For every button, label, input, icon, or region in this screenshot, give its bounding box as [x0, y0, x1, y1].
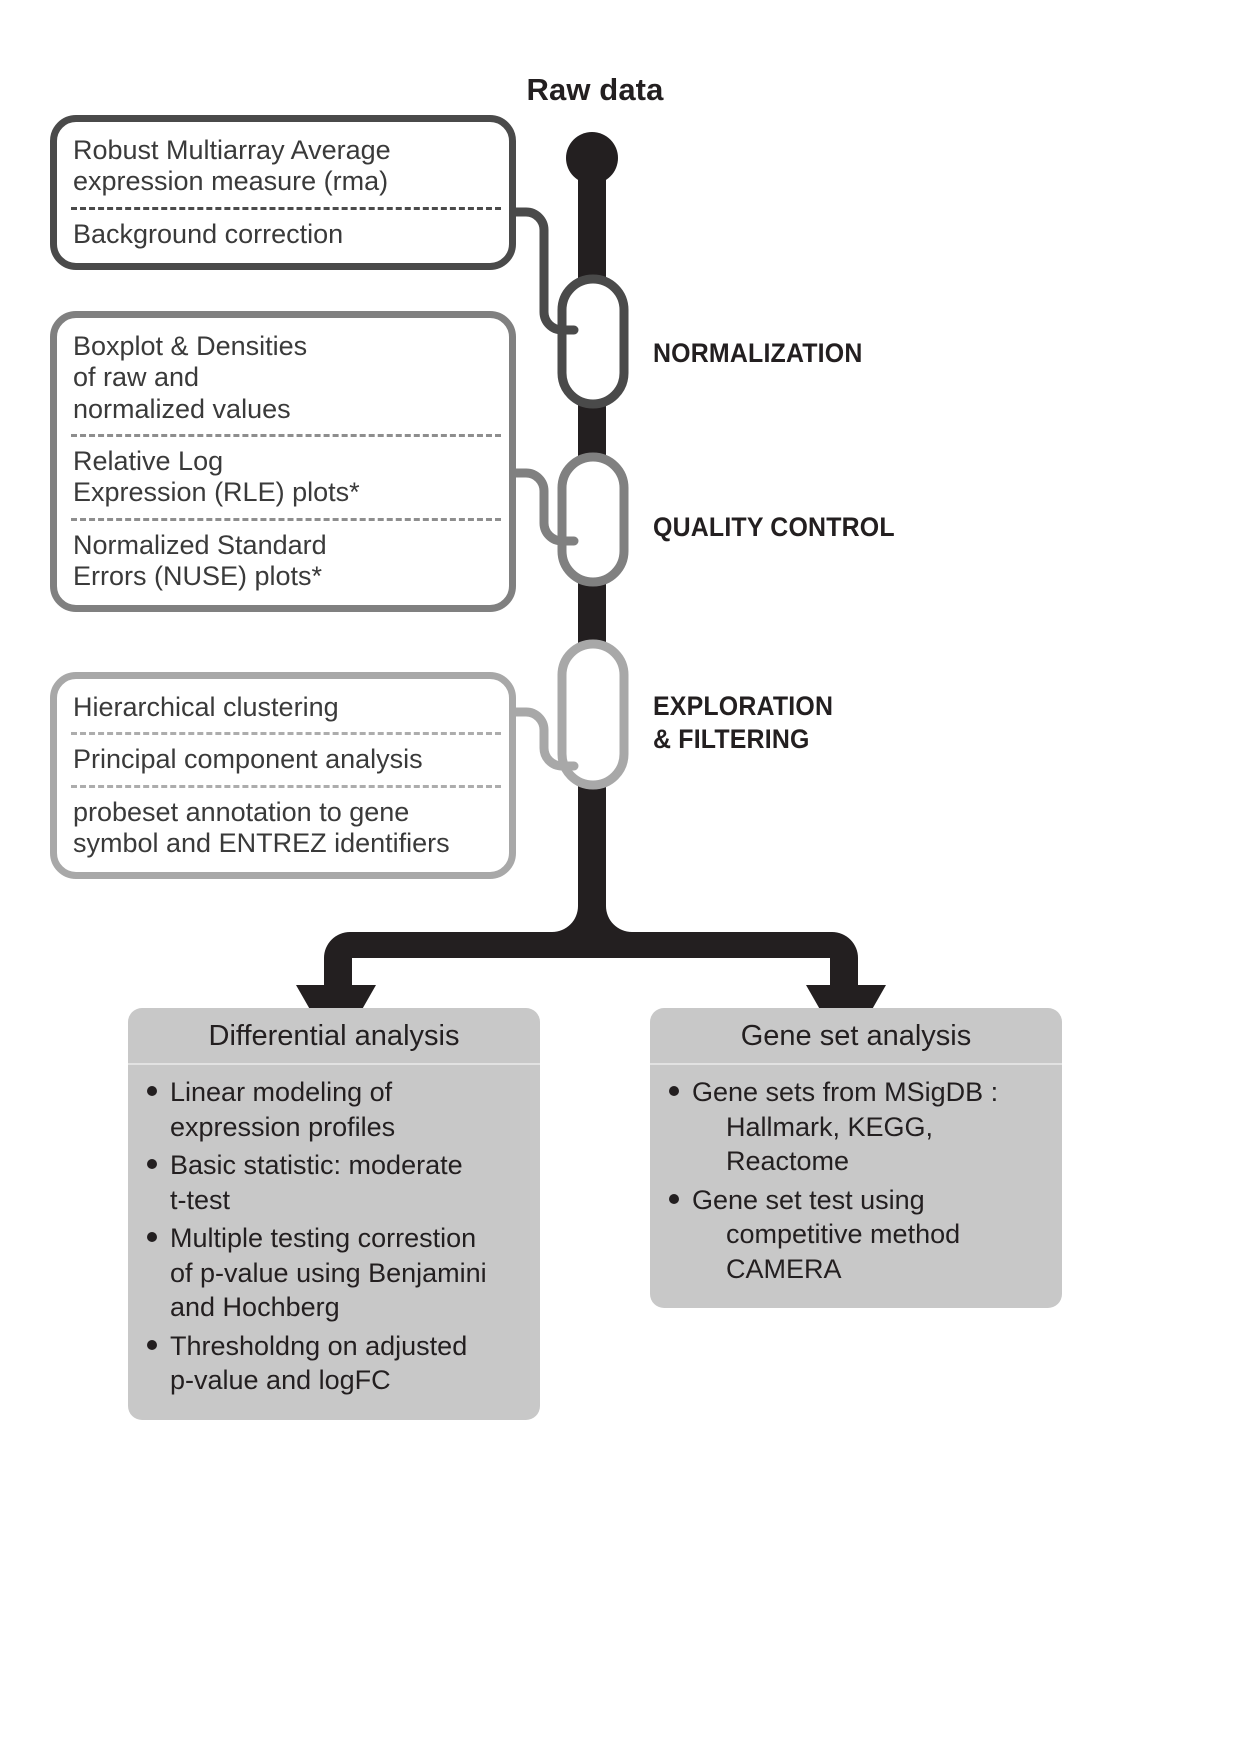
- card-line: probeset annotation to gene: [73, 797, 509, 828]
- list-item: Multiple testing correstion of p-value u…: [144, 1221, 526, 1325]
- stage-label-line: & FILTERING: [653, 723, 833, 756]
- bullet-line: Thresholdng on adjusted: [170, 1331, 467, 1361]
- card-segment: Principal component analysis: [57, 735, 509, 784]
- list-item: Linear modeling of expression profiles: [144, 1075, 526, 1144]
- bullet-line: and Hochberg: [170, 1290, 526, 1325]
- bullet-dot: [669, 1194, 679, 1204]
- bullet-line: Multiple testing correstion: [170, 1223, 476, 1253]
- stage-card-normalization: Robust Multiarray Average expression mea…: [50, 115, 516, 270]
- card-segment: Boxplot & Densities of raw and normalize…: [57, 318, 509, 434]
- bullet-line: Linear modeling of: [170, 1077, 392, 1107]
- list-item: Gene set test using competitive method C…: [666, 1183, 1048, 1287]
- card-line: Expression (RLE) plots*: [73, 477, 509, 508]
- bullet-line: expression profiles: [170, 1110, 526, 1145]
- stage-card-quality-control: Boxplot & Densities of raw and normalize…: [50, 311, 516, 612]
- stage-node-quality-control: [562, 457, 624, 582]
- stage-label-exploration: EXPLORATION & FILTERING: [653, 690, 833, 757]
- card-segment: probeset annotation to gene symbol and E…: [57, 788, 509, 873]
- bullet-line: Hallmark, KEGG,: [692, 1110, 1048, 1145]
- stage-label-quality-control: QUALITY CONTROL: [653, 511, 895, 544]
- card-line: Background correction: [73, 219, 509, 250]
- bullet-dot: [147, 1340, 157, 1350]
- bullet-line: p-value and logFC: [170, 1363, 526, 1398]
- bullet-line: competitive method: [692, 1217, 1048, 1252]
- panel-title: Gene set analysis: [650, 1008, 1062, 1065]
- card-segment: Background correction: [57, 210, 509, 263]
- card-segment: Relative Log Expression (RLE) plots*: [57, 437, 509, 518]
- stage-node-normalization: [562, 279, 624, 404]
- bullet-line: t-test: [170, 1183, 526, 1218]
- card-line: expression measure (rma): [73, 166, 509, 197]
- panel-bullet-list: Gene sets from MSigDB : Hallmark, KEGG, …: [650, 1065, 1062, 1308]
- card-line: Principal component analysis: [73, 744, 509, 775]
- bullet-line: Gene set test using: [692, 1185, 925, 1215]
- card-line: Normalized Standard: [73, 530, 509, 561]
- card-line: Robust Multiarray Average: [73, 135, 509, 166]
- bullet-line: Basic statistic: moderate: [170, 1150, 463, 1180]
- card-line: of raw and: [73, 362, 509, 393]
- card-line: Hierarchical clustering: [73, 692, 509, 723]
- stage-label-line: EXPLORATION: [653, 690, 833, 723]
- card-line: Errors (NUSE) plots*: [73, 561, 509, 592]
- card-segment: Normalized Standard Errors (NUSE) plots*: [57, 521, 509, 606]
- output-panel-differential-analysis: Differential analysis Linear modeling of…: [128, 1008, 540, 1420]
- output-panel-gene-set-analysis: Gene set analysis Gene sets from MSigDB …: [650, 1008, 1062, 1308]
- list-item: Basic statistic: moderate t-test: [144, 1148, 526, 1217]
- bullet-line: of p-value using Benjamini: [170, 1256, 526, 1291]
- bullet-dot: [147, 1232, 157, 1242]
- bullet-dot: [669, 1086, 679, 1096]
- stage-card-exploration: Hierarchical clustering Principal compon…: [50, 672, 516, 879]
- card-line: Boxplot & Densities: [73, 331, 509, 362]
- bullet-line: Gene sets from MSigDB :: [692, 1077, 998, 1107]
- panel-title: Differential analysis: [128, 1008, 540, 1065]
- bullet-line: CAMERA: [692, 1252, 1048, 1287]
- card-line: Relative Log: [73, 446, 509, 477]
- list-item: Thresholdng on adjusted p-value and logF…: [144, 1329, 526, 1398]
- card-segment: Robust Multiarray Average expression mea…: [57, 122, 509, 207]
- bullet-line: Reactome: [692, 1144, 1048, 1179]
- workflow-diagram: Raw data Robust Multiarray Average expre…: [0, 0, 1240, 1753]
- bullet-dot: [147, 1159, 157, 1169]
- list-item: Gene sets from MSigDB : Hallmark, KEGG, …: [666, 1075, 1048, 1179]
- card-line: symbol and ENTREZ identifiers: [73, 828, 509, 859]
- card-segment: Hierarchical clustering: [57, 679, 509, 732]
- raw-data-title: Raw data: [430, 72, 760, 108]
- bullet-dot: [147, 1086, 157, 1096]
- panel-bullet-list: Linear modeling of expression profiles B…: [128, 1065, 540, 1420]
- card-line: normalized values: [73, 394, 509, 425]
- stage-label-normalization: NORMALIZATION: [653, 337, 863, 370]
